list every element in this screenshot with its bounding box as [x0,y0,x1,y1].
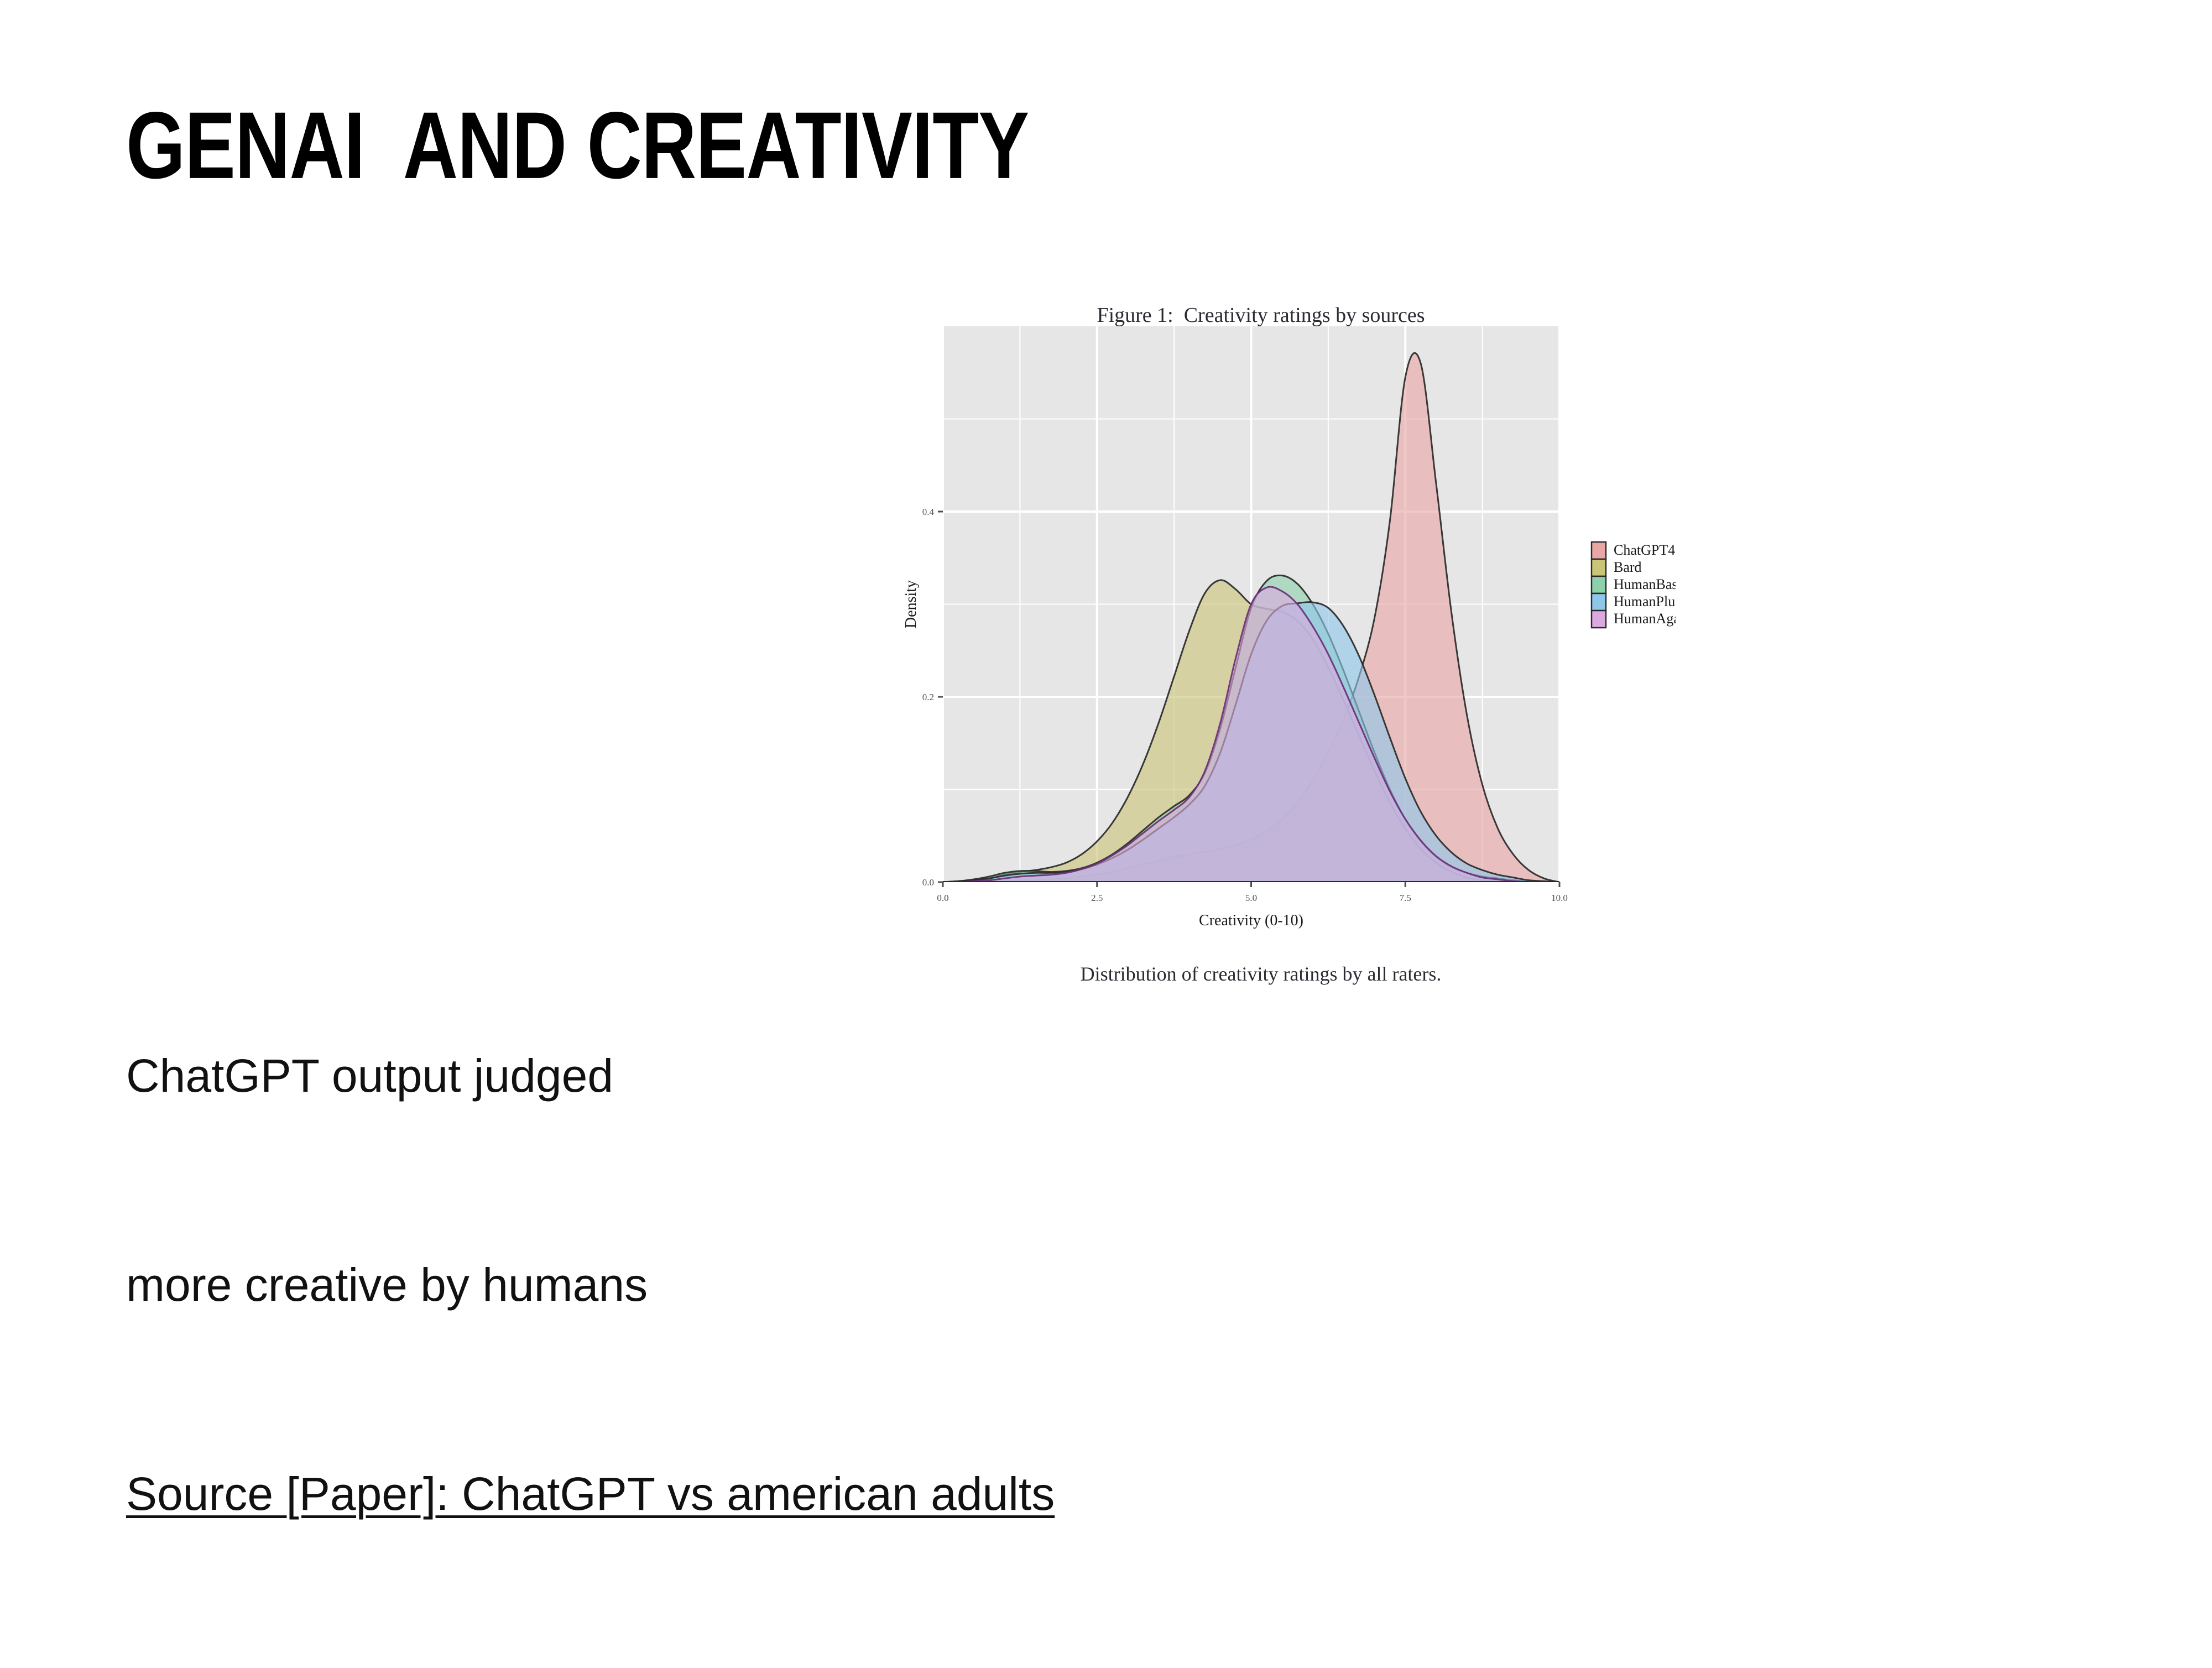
density-chart: 0.02.55.07.510.00.00.20.4Creativity (0-1… [901,321,1676,973]
slide-canvas: GENAI AND CREATIVITY Figure 1: Creativit… [0,0,2212,1244]
legend-label-humanbaseline: HumanBaseline [1614,576,1676,592]
legend-label-humanplusai: HumanPlusAI [1614,593,1676,609]
body-text-block: ChatGPT output judged more creative by h… [126,901,1287,1668]
y-axis-tick-label: 0.2 [922,692,934,702]
legend-label-bard: Bard [1614,559,1642,575]
y-axis-tick-label: 0.0 [922,877,934,888]
y-axis-tick-label: 0.4 [922,507,935,517]
legend-swatch-humanagainstai [1592,611,1606,628]
x-axis-tick-label: 10.0 [1551,893,1568,903]
page-title: GENAI AND CREATIVITY [126,98,1029,194]
legend-swatch-chatgpt4 [1592,542,1606,559]
x-axis-tick-label: 7.5 [1400,893,1411,903]
source-paper-link[interactable]: Source [Paper]: ChatGPT vs american adul… [126,1459,1287,1529]
legend-swatch-humanbaseline [1592,576,1606,593]
body-line-1: ChatGPT output judged [126,1041,1287,1111]
legend-label-humanagainstai: HumanAgainstAI [1614,611,1676,627]
figure-container: Figure 1: Creativity ratings by sources … [901,299,1676,1007]
y-axis-title: Density [902,580,920,628]
legend-label-chatgpt4: ChatGPT4 [1614,542,1675,558]
legend-swatch-humanplusai [1592,593,1606,611]
chart-legend: ChatGPT4BardHumanBaselineHumanPlusAIHuma… [1592,542,1676,628]
body-line-2: more creative by humans [126,1250,1287,1320]
legend-swatch-bard [1592,559,1606,576]
